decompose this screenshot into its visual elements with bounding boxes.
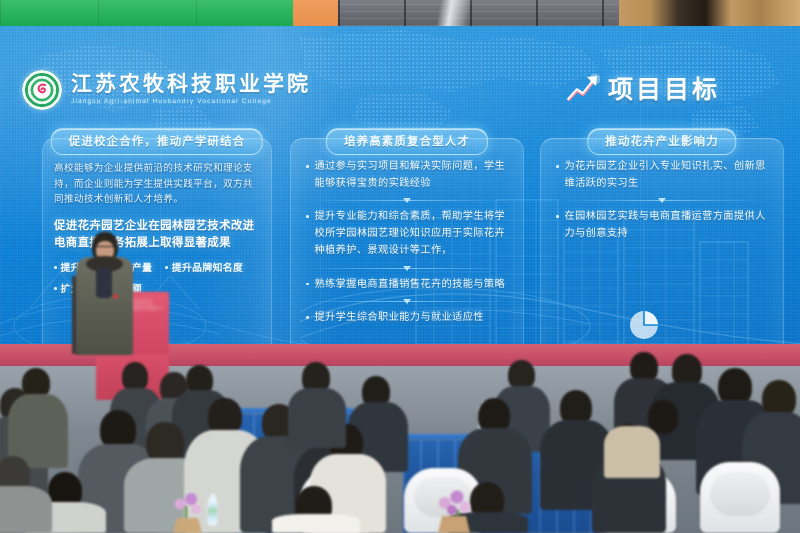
wall-panel-green: [0, 0, 293, 26]
slide-title: 项目目标: [566, 70, 720, 106]
bullet-row: 通过参与实习项目和解决实际问题，学生能够获得宝贵的实践经验: [302, 159, 512, 192]
school-name-en: Jiangsu Agri-animal Husbandry Vocational…: [71, 99, 311, 106]
goal-panel-2: 培养高素质复合型人才 通过参与实习项目和解决实际问题，学生能够获得宝贵的实践经验…: [290, 138, 524, 344]
speaker-lapel-pin: [113, 294, 118, 299]
school-branding: 江苏农牧科技职业学院 Jiangsu Agri-animal Husbandry…: [22, 70, 311, 110]
speaker-at-podium: [74, 232, 134, 354]
tag-item: 提升品牌知名度: [165, 260, 243, 274]
bullet-text: 提升专业能力和综合素质，帮助学生将学校所学园林园艺理论知识应用于实际花卉种植养护…: [315, 209, 509, 259]
bullet-dot-icon: [54, 287, 57, 290]
audience-body: [272, 514, 360, 533]
bullet-divider-caret-icon: [302, 192, 512, 209]
audience-head: [648, 400, 678, 434]
bullet-dot-icon: [306, 283, 309, 286]
bullet-text: 在园林园艺实践与电商直播运营方面提供人力与创意支持: [565, 209, 769, 242]
school-emblem-icon: [22, 70, 62, 110]
bullet-dot-icon: [556, 215, 559, 218]
goal-panel-1-heading: 促进校企合作，推动产学研结合: [51, 128, 263, 155]
water-bottle: [208, 498, 217, 525]
bullet-dot-icon: [556, 165, 559, 168]
school-name-cn: 江苏农牧科技职业学院: [71, 74, 311, 95]
audience-fur-collar: [604, 426, 660, 478]
audience-chair: [700, 462, 780, 533]
bullet-row: 提升学生综合职业能力与就业适应性: [302, 310, 512, 327]
pie-chart-icon: [627, 308, 661, 342]
goal-panel-1-paragraph: 高校能够为企业提供前沿的技术研究和理论支持，而企业则能为学生提供实践平台，双方共…: [54, 161, 260, 208]
bullet-row: 提升专业能力和综合素质，帮助学生将学校所学园林园艺理论知识应用于实际花卉种植养护…: [302, 209, 512, 259]
bullet-row: 为花卉园艺企业引入专业知识扎实、创新思维活跃的实习生: [552, 159, 772, 192]
flower-arrangement: [432, 476, 478, 533]
bullet-divider-caret-icon: [552, 192, 772, 209]
conference-photo: 江苏农牧科技职业学院 Jiangsu Agri-animal Husbandry…: [0, 0, 800, 533]
bullet-row: 在园林园艺实践与电商直播运营方面提供人力与创意支持: [552, 209, 772, 242]
bullet-dot-icon: [306, 215, 309, 218]
venue-back-wall: [0, 0, 800, 26]
slide-title-text: 项目目标: [608, 70, 720, 106]
bullet-text: 为花卉园艺企业引入专业知识扎实、创新思维活跃的实习生: [565, 159, 769, 192]
goal-panel-3-heading: 推动花卉产业影响力: [587, 128, 736, 155]
bullet-text: 提升学生综合职业能力与就业适应性: [315, 310, 484, 327]
bullet-divider-caret-icon: [302, 260, 512, 277]
rising-arrow-icon: [566, 73, 600, 103]
wall-panel-wood: [619, 0, 800, 26]
audience-body: [0, 486, 52, 533]
goal-panel-2-heading: 培养高素质复合型人才: [326, 128, 488, 155]
bullet-divider-caret-icon: [302, 293, 512, 310]
window-glass-panel: [338, 0, 619, 26]
bullet-dot-icon: [306, 165, 309, 168]
speaker-inner-shirt: [96, 268, 112, 298]
bullet-text: 通过参与实习项目和解决实际问题，学生能够获得宝贵的实践经验: [315, 159, 509, 192]
bullet-text: 熟练掌握电商直播销售花卉的技能与策略: [315, 277, 506, 294]
bullet-row: 熟练掌握电商直播销售花卉的技能与策略: [302, 277, 512, 294]
wall-panel-orange: [293, 0, 338, 26]
audience-body: [288, 388, 346, 448]
flower-arrangement: [168, 482, 208, 533]
bullet-dot-icon: [306, 316, 309, 319]
emblem-swirl-icon: [34, 82, 51, 99]
bullet-dot-icon: [54, 266, 57, 269]
bullet-dot-icon: [165, 266, 168, 269]
speaker-glasses: [96, 246, 114, 251]
tag-label: 提升品牌知名度: [172, 260, 243, 274]
goal-panel-3: 推动花卉产业影响力 为花卉园艺企业引入专业知识扎实、创新思维活跃的实习生 在园林…: [540, 138, 784, 344]
